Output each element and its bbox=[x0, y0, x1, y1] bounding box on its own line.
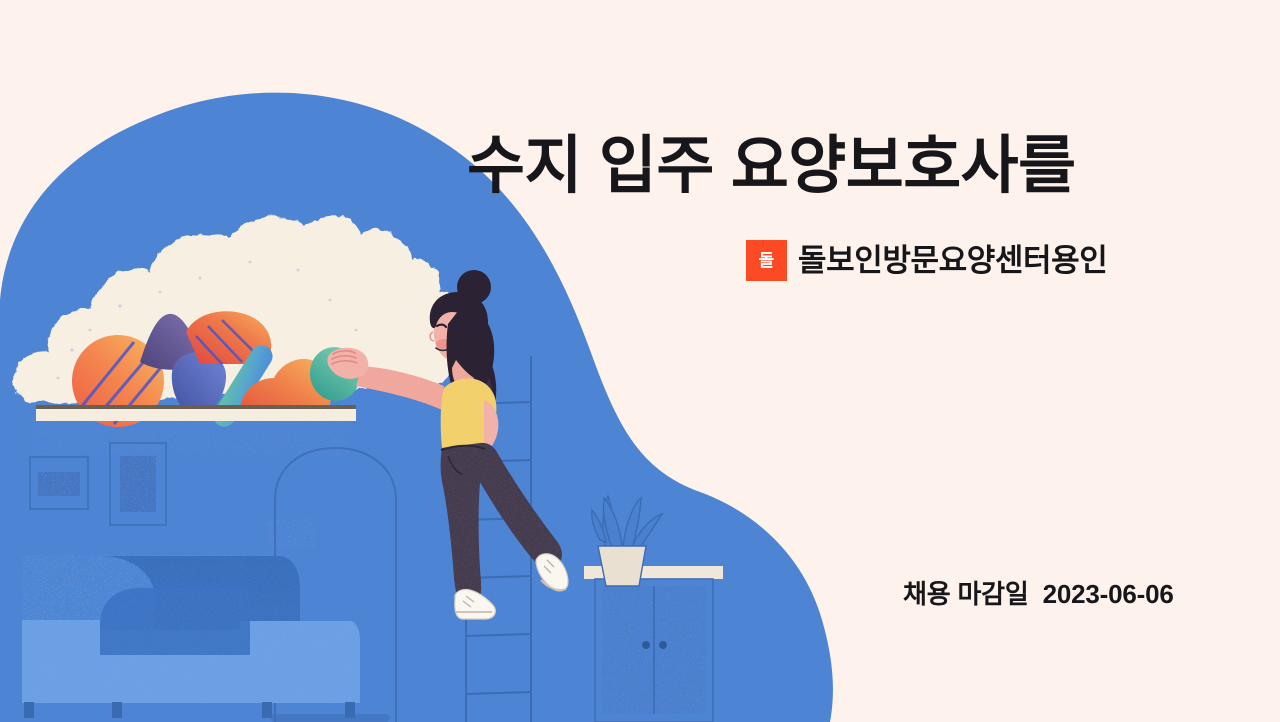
company-name: 돌보인방문요양센터용인 bbox=[798, 245, 1107, 276]
job-posting-card: 수지 입주 요양보호사를 돌 돌보인방문요양센터용인 채용 마감일2023-06… bbox=[0, 0, 1280, 722]
deadline-date: 2023-06-06 bbox=[1043, 579, 1174, 609]
deadline-row: 채용 마감일2023-06-06 bbox=[903, 574, 1174, 611]
hero-illustration bbox=[0, 0, 860, 722]
company-row: 돌 돌보인방문요양센터용인 bbox=[746, 240, 1107, 281]
deadline-label: 채용 마감일 bbox=[903, 579, 1029, 609]
page-title: 수지 입주 요양보호사를 bbox=[467, 131, 1167, 202]
company-logo-icon: 돌 bbox=[746, 240, 787, 281]
cabinet bbox=[584, 566, 723, 722]
shelf-board bbox=[36, 405, 356, 421]
